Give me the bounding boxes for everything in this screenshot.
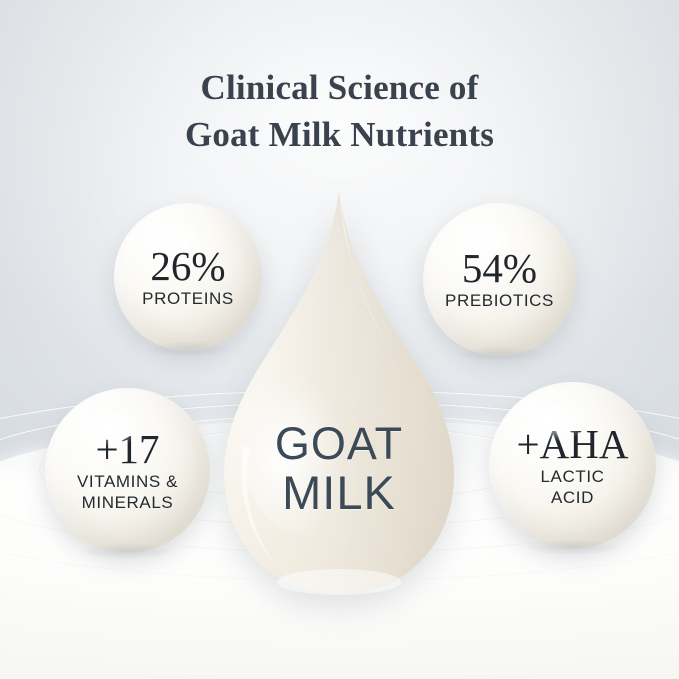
sphere-value-vitamins: +17 (95, 429, 159, 470)
sphere-label-aha-line-1: LACTIC (540, 468, 604, 486)
droplet-label: GOAT MILK (209, 422, 469, 516)
milk-droplet-icon (220, 190, 458, 600)
nutrient-sphere-aha: +AHA LACTIC ACID (489, 382, 656, 549)
droplet-label-line-1: GOAT (209, 422, 469, 466)
sphere-label-vitamins-line-1: VITAMINS & (77, 473, 178, 491)
page-title-line-1: Clinical Science of (201, 68, 479, 107)
sphere-label-prebiotics: PREBIOTICS (445, 292, 554, 310)
sphere-contact-shadow (455, 346, 544, 362)
sphere-label-vitamins-line-2: MINERALS (82, 494, 174, 512)
page-title: Clinical Science of Goat Milk Nutrients (0, 65, 679, 158)
sphere-value-proteins: 26% (150, 246, 225, 287)
sphere-value-prebiotics: 54% (462, 248, 537, 289)
infographic-canvas: Clinical Science of Goat Milk Nutrients (0, 0, 679, 679)
nutrient-sphere-vitamins: +17 VITAMINS & MINERALS (45, 388, 210, 553)
sphere-contact-shadow (145, 341, 231, 357)
sphere-value-aha: +AHA (517, 424, 629, 465)
droplet-label-line-2: MILK (209, 470, 469, 516)
sphere-label-aha-line-2: ACID (551, 489, 594, 507)
page-title-line-2: Goat Milk Nutrients (0, 112, 679, 159)
